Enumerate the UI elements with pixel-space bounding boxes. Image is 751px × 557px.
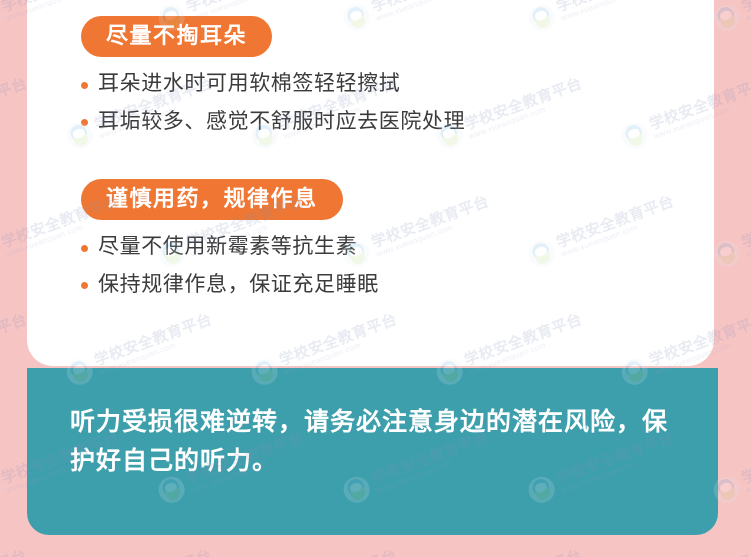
watermark-text: 学校安全教育平台www.xueanquan.com xyxy=(739,194,751,259)
watermark-title: 学校安全教育平台 xyxy=(277,548,399,557)
watermark-text: 学校安全教育平台www.xueanquan.com xyxy=(739,430,751,495)
watermark-title: 学校安全教育平台 xyxy=(647,548,751,557)
watermark-text: 学校安全教育平台www.xueanquan.com xyxy=(92,548,217,557)
watermark-title: 学校安全教育平台 xyxy=(92,548,214,557)
leaf-logo-icon xyxy=(0,1,3,34)
watermark: 学校安全教育平台www.xueanquan.com xyxy=(710,0,751,34)
list-item-label: 保持规律作息，保证充足睡眠 xyxy=(98,272,379,298)
watermark-title: 学校安全教育平台 xyxy=(739,430,751,487)
watermark-url: www.xueanquan.com xyxy=(745,445,751,495)
list-item: 耳朵进水时可用软棉签轻轻擦拭 xyxy=(81,71,465,97)
watermark: 学校安全教育平台www.xueanquan.com xyxy=(0,547,32,557)
watermark-title: 学校安全教育平台 xyxy=(0,76,29,133)
content-card: 尽量不掏耳朵 耳朵进水时可用软棉签轻轻擦拭 耳垢较多、感觉不舒服时应去医院处理 … xyxy=(27,0,714,366)
bullet-dot-icon xyxy=(81,119,88,126)
watermark-title: 学校安全教育平台 xyxy=(739,0,751,15)
watermark-title: 学校安全教育平台 xyxy=(739,194,751,251)
leaf-logo-icon xyxy=(710,237,743,270)
watermark-title: 学校安全教育平台 xyxy=(0,548,29,557)
watermark-url: www.xueanquan.com xyxy=(745,0,751,23)
watermark-url: www.xueanquan.com xyxy=(745,209,751,259)
footer-banner: 听力受损很难逆转，请务必注意身边的潜在风险，保护好自己的听力。 xyxy=(27,368,718,535)
watermark-text: 学校安全教育平台www.xueanquan.com xyxy=(739,0,751,23)
watermark: 学校安全教育平台www.xueanquan.com xyxy=(710,193,751,270)
watermark-title: 学校安全教育平台 xyxy=(462,548,584,557)
watermark: 学校安全教育平台www.xueanquan.com xyxy=(618,547,751,557)
list-item: 耳垢较多、感觉不舒服时应去医院处理 xyxy=(81,109,465,135)
footer-message: 听力受损很难逆转，请务必注意身边的潜在风险，保护好自己的听力。 xyxy=(70,403,685,481)
leaf-logo-icon xyxy=(0,237,3,270)
watermark-text: 学校安全教育平台www.xueanquan.com xyxy=(647,548,751,557)
list-item-label: 耳垢较多、感觉不舒服时应去医院处理 xyxy=(98,109,465,135)
leaf-logo-icon xyxy=(0,473,3,506)
watermark: 学校安全教育平台www.xueanquan.com xyxy=(63,547,218,557)
poster-root: 尽量不掏耳朵 耳朵进水时可用软棉签轻轻擦拭 耳垢较多、感觉不舒服时应去医院处理 … xyxy=(0,0,751,557)
section-badge-ear-care: 尽量不掏耳朵 xyxy=(81,16,272,57)
list-item: 尽量不使用新霉素等抗生素 xyxy=(81,234,379,260)
bullet-dot-icon xyxy=(81,282,88,289)
bullet-dot-icon xyxy=(81,245,88,252)
section-ear-care: 尽量不掏耳朵 耳朵进水时可用软棉签轻轻擦拭 耳垢较多、感觉不舒服时应去医院处理 xyxy=(81,16,465,146)
watermark: 学校安全教育平台www.xueanquan.com xyxy=(433,547,588,557)
list-item-label: 耳朵进水时可用软棉签轻轻擦拭 xyxy=(98,71,400,97)
watermark-title: 学校安全教育平台 xyxy=(0,312,29,369)
bullet-list-medication-rest: 尽量不使用新霉素等抗生素 保持规律作息，保证充足睡眠 xyxy=(81,234,379,298)
watermark: 学校安全教育平台www.xueanquan.com xyxy=(248,547,403,557)
leaf-logo-icon xyxy=(710,1,743,34)
bullet-list-ear-care: 耳朵进水时可用软棉签轻轻擦拭 耳垢较多、感觉不舒服时应去医院处理 xyxy=(81,71,465,135)
section-medication-rest: 谨慎用药，规律作息 尽量不使用新霉素等抗生素 保持规律作息，保证充足睡眠 xyxy=(81,179,379,309)
list-item-label: 尽量不使用新霉素等抗生素 xyxy=(98,234,357,260)
watermark-text: 学校安全教育平台www.xueanquan.com xyxy=(277,548,402,557)
watermark-text: 学校安全教育平台www.xueanquan.com xyxy=(462,548,587,557)
section-badge-medication-rest: 谨慎用药，规律作息 xyxy=(81,179,343,220)
watermark-text: 学校安全教育平台www.xueanquan.com xyxy=(0,548,32,557)
bullet-dot-icon xyxy=(81,82,88,89)
list-item: 保持规律作息，保证充足睡眠 xyxy=(81,272,379,298)
